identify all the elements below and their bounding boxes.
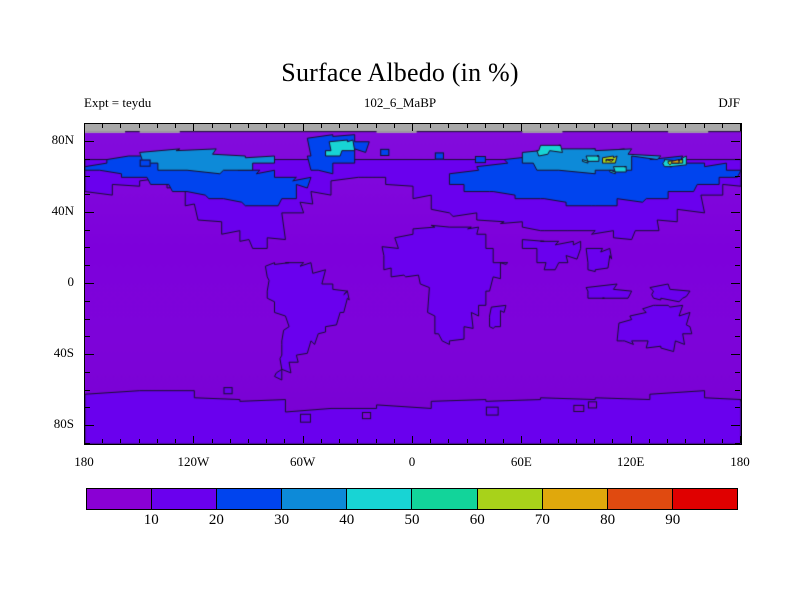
axis-tick <box>649 124 650 128</box>
y-axis-label-0: 0 <box>22 274 74 290</box>
axis-tick <box>685 124 686 128</box>
axis-tick <box>376 124 377 128</box>
axis-tick <box>230 439 231 443</box>
axis-tick <box>735 194 740 195</box>
axis-tick <box>157 124 158 128</box>
axis-tick <box>503 439 504 443</box>
axis-tick <box>85 212 94 213</box>
colorbar-segment-2 <box>217 489 282 509</box>
axis-tick <box>248 124 249 128</box>
axis-tick <box>120 124 121 128</box>
x-axis-label-120E: 120E <box>601 454 661 470</box>
colorbar-segment-3 <box>282 489 347 509</box>
axis-tick <box>704 439 705 443</box>
axis-tick <box>735 319 740 320</box>
axis-tick <box>740 124 741 131</box>
axis-tick <box>85 354 94 355</box>
axis-tick <box>120 439 121 443</box>
axis-tick <box>558 439 559 443</box>
axis-tick <box>735 230 740 231</box>
axis-tick <box>85 265 90 266</box>
axis-tick <box>157 439 158 443</box>
axis-tick <box>735 336 740 337</box>
axis-tick <box>631 436 632 443</box>
x-axis-label-180: 180 <box>710 454 770 470</box>
axis-tick <box>667 439 668 443</box>
colorbar <box>86 488 738 510</box>
axis-tick <box>85 176 90 177</box>
season-label: DJF <box>718 95 740 111</box>
x-axis-label-0: 0 <box>382 454 442 470</box>
axis-tick <box>284 124 285 128</box>
axis-tick <box>612 124 613 128</box>
axis-tick <box>467 439 468 443</box>
colorbar-segment-5 <box>412 489 477 509</box>
colorbar-label-30: 30 <box>262 512 302 529</box>
axis-tick <box>735 265 740 266</box>
axis-tick <box>735 372 740 373</box>
axis-tick <box>540 124 541 128</box>
axis-tick <box>84 436 85 443</box>
axis-tick <box>731 141 740 142</box>
axis-tick <box>85 443 90 444</box>
axis-tick <box>139 124 140 128</box>
axis-tick <box>303 436 304 443</box>
axis-tick <box>485 124 486 128</box>
axis-tick <box>430 124 431 128</box>
axis-tick <box>735 443 740 444</box>
colorbar-label-80: 80 <box>588 512 628 529</box>
albedo-map-figure: Surface Albedo (in %) 102_6_MaBP Expt = … <box>0 0 800 600</box>
colorbar-segment-9 <box>673 489 737 509</box>
axis-tick <box>731 425 740 426</box>
axis-tick <box>321 124 322 128</box>
colorbar-label-60: 60 <box>457 512 497 529</box>
axis-tick <box>85 141 94 142</box>
colorbar-label-50: 50 <box>392 512 432 529</box>
axis-tick <box>284 439 285 443</box>
axis-tick <box>704 124 705 128</box>
axis-tick <box>467 124 468 128</box>
map-plot-area <box>84 123 742 445</box>
axis-tick <box>731 212 740 213</box>
axis-tick <box>722 124 723 128</box>
x-axis-label-180: 180 <box>54 454 114 470</box>
y-axis-label-40S: 40S <box>22 345 74 361</box>
axis-tick <box>175 124 176 128</box>
axis-tick <box>85 283 94 284</box>
axis-tick <box>212 439 213 443</box>
colorbar-segment-8 <box>608 489 673 509</box>
colorbar-segment-0 <box>87 489 152 509</box>
axis-tick <box>631 124 632 131</box>
colorbar-segment-4 <box>347 489 412 509</box>
colorbar-label-20: 20 <box>196 512 236 529</box>
axis-tick <box>394 439 395 443</box>
axis-tick <box>102 124 103 128</box>
axis-tick <box>357 124 358 128</box>
albedo-field-canvas <box>85 124 741 444</box>
colorbar-label-40: 40 <box>327 512 367 529</box>
axis-tick <box>85 301 90 302</box>
axis-tick <box>339 439 340 443</box>
axis-tick <box>84 124 85 131</box>
axis-tick <box>102 439 103 443</box>
axis-tick <box>139 439 140 443</box>
axis-tick <box>735 176 740 177</box>
axis-tick <box>735 159 740 160</box>
axis-tick <box>339 124 340 128</box>
axis-tick <box>649 439 650 443</box>
axis-tick <box>594 124 595 128</box>
colorbar-segment-1 <box>152 489 217 509</box>
axis-tick <box>85 336 90 337</box>
axis-tick <box>503 124 504 128</box>
axis-tick <box>540 439 541 443</box>
axis-tick <box>85 425 94 426</box>
axis-tick <box>85 319 90 320</box>
axis-tick <box>212 124 213 128</box>
axis-tick <box>521 124 522 131</box>
y-axis-label-40N: 40N <box>22 203 74 219</box>
axis-tick <box>735 301 740 302</box>
x-axis-label-60E: 60E <box>491 454 551 470</box>
axis-tick <box>521 436 522 443</box>
colorbar-label-90: 90 <box>653 512 693 529</box>
axis-tick <box>448 439 449 443</box>
axis-tick <box>85 372 90 373</box>
y-axis-label-80N: 80N <box>22 132 74 148</box>
axis-tick <box>394 124 395 128</box>
axis-tick <box>193 436 194 443</box>
axis-tick <box>266 124 267 128</box>
x-axis-label-60W: 60W <box>273 454 333 470</box>
axis-tick <box>430 439 431 443</box>
axis-tick <box>485 439 486 443</box>
axis-tick <box>735 407 740 408</box>
axis-tick <box>230 124 231 128</box>
axis-tick <box>85 194 90 195</box>
axis-tick <box>448 124 449 128</box>
axis-tick <box>248 439 249 443</box>
axis-tick <box>175 439 176 443</box>
axis-tick <box>731 283 740 284</box>
axis-tick <box>667 124 668 128</box>
axis-tick <box>735 390 740 391</box>
axis-tick <box>612 439 613 443</box>
axis-tick <box>321 439 322 443</box>
axis-tick <box>85 230 90 231</box>
axis-tick <box>558 124 559 128</box>
colorbar-label-10: 10 <box>131 512 171 529</box>
axis-tick <box>576 439 577 443</box>
axis-tick <box>594 439 595 443</box>
axis-tick <box>85 159 90 160</box>
axis-tick <box>685 439 686 443</box>
axis-tick <box>85 123 90 124</box>
axis-tick <box>412 436 413 443</box>
axis-tick <box>266 439 267 443</box>
experiment-label: Expt = teydu <box>84 95 151 111</box>
axis-tick <box>193 124 194 131</box>
colorbar-segment-7 <box>543 489 608 509</box>
axis-tick <box>735 123 740 124</box>
colorbar-label-70: 70 <box>522 512 562 529</box>
axis-tick <box>731 354 740 355</box>
y-axis-label-80S: 80S <box>22 416 74 432</box>
x-axis-label-120W: 120W <box>163 454 223 470</box>
axis-tick <box>85 407 90 408</box>
axis-tick <box>412 124 413 131</box>
colorbar-segment-6 <box>478 489 543 509</box>
axis-tick <box>576 124 577 128</box>
axis-tick <box>376 439 377 443</box>
axis-tick <box>740 436 741 443</box>
colorbar-segments <box>86 488 738 510</box>
axis-tick <box>735 247 740 248</box>
page-title: Surface Albedo (in %) <box>0 58 800 88</box>
axis-tick <box>85 390 90 391</box>
axis-tick <box>85 247 90 248</box>
axis-tick <box>357 439 358 443</box>
axis-tick <box>303 124 304 131</box>
axis-tick <box>722 439 723 443</box>
